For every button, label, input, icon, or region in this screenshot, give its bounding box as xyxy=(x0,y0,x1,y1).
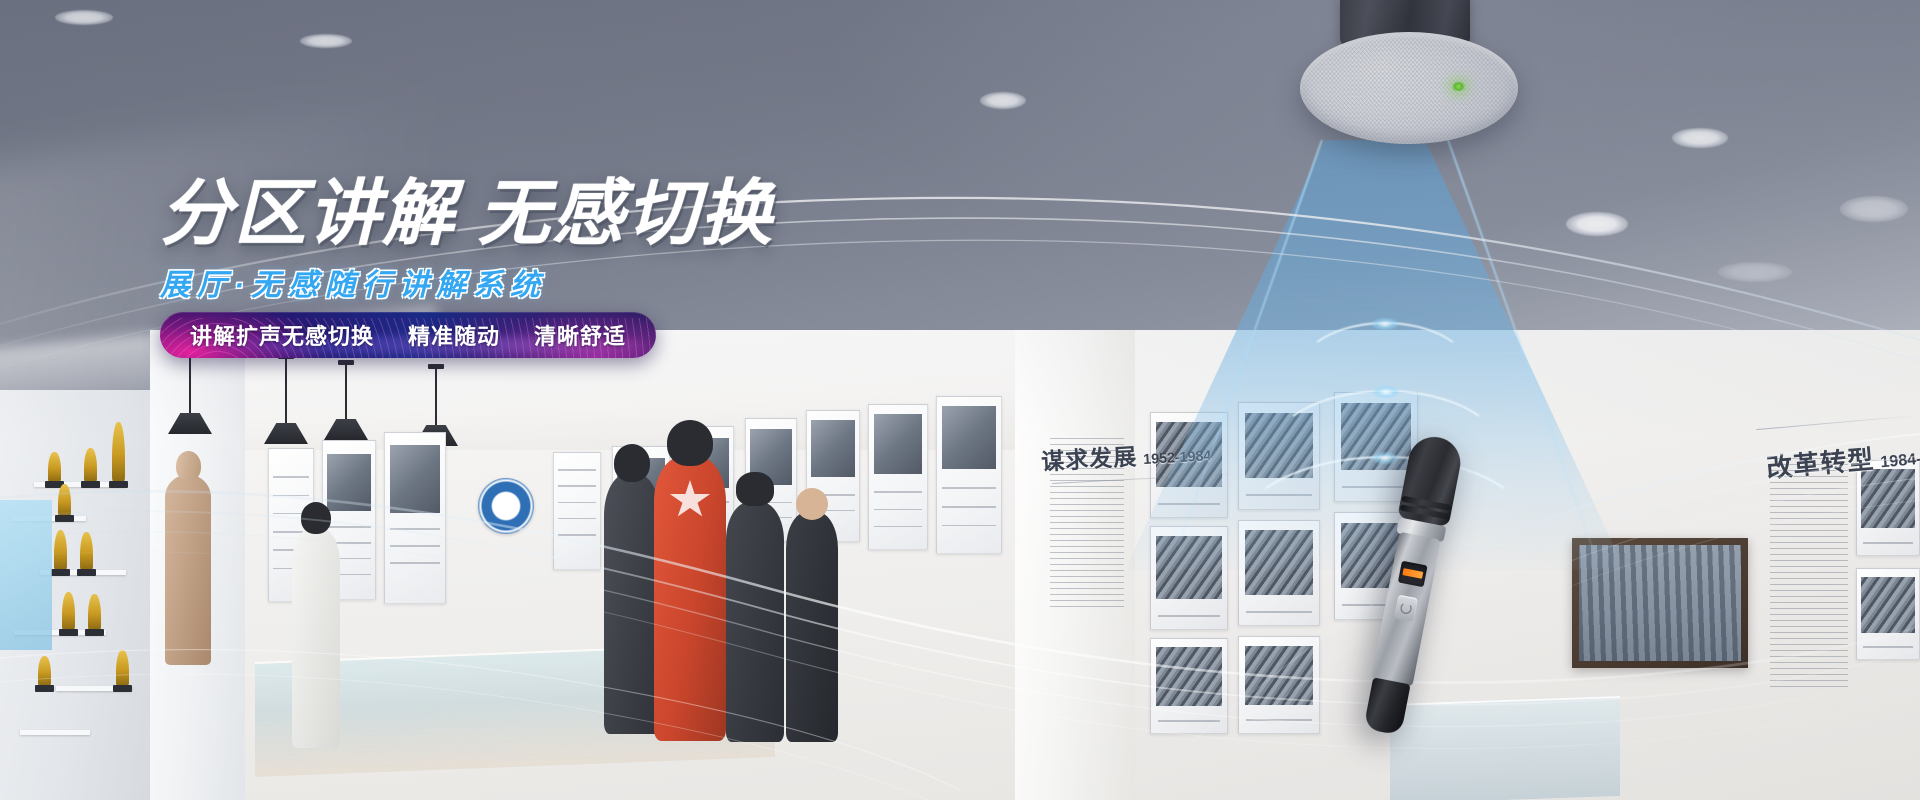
exhibition-panel xyxy=(936,396,1002,554)
speaker-status-led xyxy=(1452,82,1465,91)
wall-heading-1-years: 1952-1984 xyxy=(1143,448,1212,468)
wall-heading-2-years: 1984-2010 xyxy=(1880,447,1920,472)
trophy-icon xyxy=(112,422,125,482)
ceiling-downlight xyxy=(1672,128,1728,148)
visitor-figure xyxy=(292,528,340,748)
trophy-shelf xyxy=(20,730,90,735)
ceiling-downlight xyxy=(1718,262,1792,282)
ceiling-downlight xyxy=(980,92,1026,109)
visitor-figure xyxy=(654,456,726,741)
feature-pill-item-2: 精准随动 xyxy=(408,319,500,351)
photo-tile xyxy=(1856,568,1920,660)
trophy-icon xyxy=(58,484,71,516)
exhibit-pedestal xyxy=(1390,696,1620,800)
speaker-grille xyxy=(1300,32,1518,144)
feature-pill-item-1: 讲解扩声无感切换 xyxy=(190,319,374,351)
visitor-figure xyxy=(786,512,838,742)
vest-star-logo xyxy=(669,480,711,520)
pendant-lamp xyxy=(285,358,287,424)
ceiling-downlight xyxy=(55,10,113,25)
pendant-lamp xyxy=(435,368,437,426)
pendant-lamp xyxy=(345,364,347,420)
wall-text-column xyxy=(1770,458,1848,688)
feature-pill[interactable]: 讲解扩声无感切换 精准随动 清晰舒适 xyxy=(160,312,656,358)
pendant-lamp xyxy=(189,352,191,414)
banner-subheadline: 展厅·无感随行讲解系统 xyxy=(160,260,920,304)
school-emblem-icon xyxy=(478,478,534,534)
wall-heading-1-title: 谋求发展 xyxy=(1041,443,1138,474)
promo-banner: 谋求发展1952-1984 改革转型1984-2010 xyxy=(0,0,1920,800)
glass-partition xyxy=(0,500,52,650)
framed-painting xyxy=(1572,538,1748,668)
ceiling-speaker[interactable] xyxy=(1300,0,1520,150)
exhibition-panel xyxy=(868,404,928,550)
trophy-icon xyxy=(38,656,51,686)
exhibition-hall-scene xyxy=(0,330,1920,800)
trophy-icon xyxy=(84,448,97,482)
visitor-figure xyxy=(604,474,660,734)
ceiling-downlight xyxy=(1566,212,1628,236)
trophy-icon xyxy=(48,452,61,482)
banner-headline: 分区讲解 无感切换 xyxy=(160,178,920,250)
photo-tile xyxy=(1238,636,1320,734)
exhibition-panel xyxy=(553,452,601,570)
trophy-icon xyxy=(88,594,101,630)
trophy-icon xyxy=(62,592,75,630)
banner-copy: 分区讲解 无感切换 展厅·无感随行讲解系统 讲解扩声无感切换 精准随动 清晰舒适 xyxy=(160,178,920,304)
trophy-icon xyxy=(54,530,67,570)
visitor-figure xyxy=(726,502,784,742)
mic-display xyxy=(1398,561,1428,588)
photo-tile xyxy=(1238,402,1320,510)
bronze-statue xyxy=(165,475,211,665)
photo-tile xyxy=(1238,520,1320,626)
trophy-icon xyxy=(116,650,129,686)
mic-battery-cap xyxy=(1363,677,1410,735)
feature-pill-item-3: 清晰舒适 xyxy=(534,319,626,351)
exhibition-panel xyxy=(384,432,446,604)
mic-power-button[interactable] xyxy=(1394,595,1418,622)
ceiling-downlight xyxy=(1840,196,1908,222)
trophy-icon xyxy=(80,532,93,570)
photo-tile xyxy=(1150,526,1228,630)
photo-tile xyxy=(1150,638,1228,734)
ceiling-downlight xyxy=(300,34,352,48)
